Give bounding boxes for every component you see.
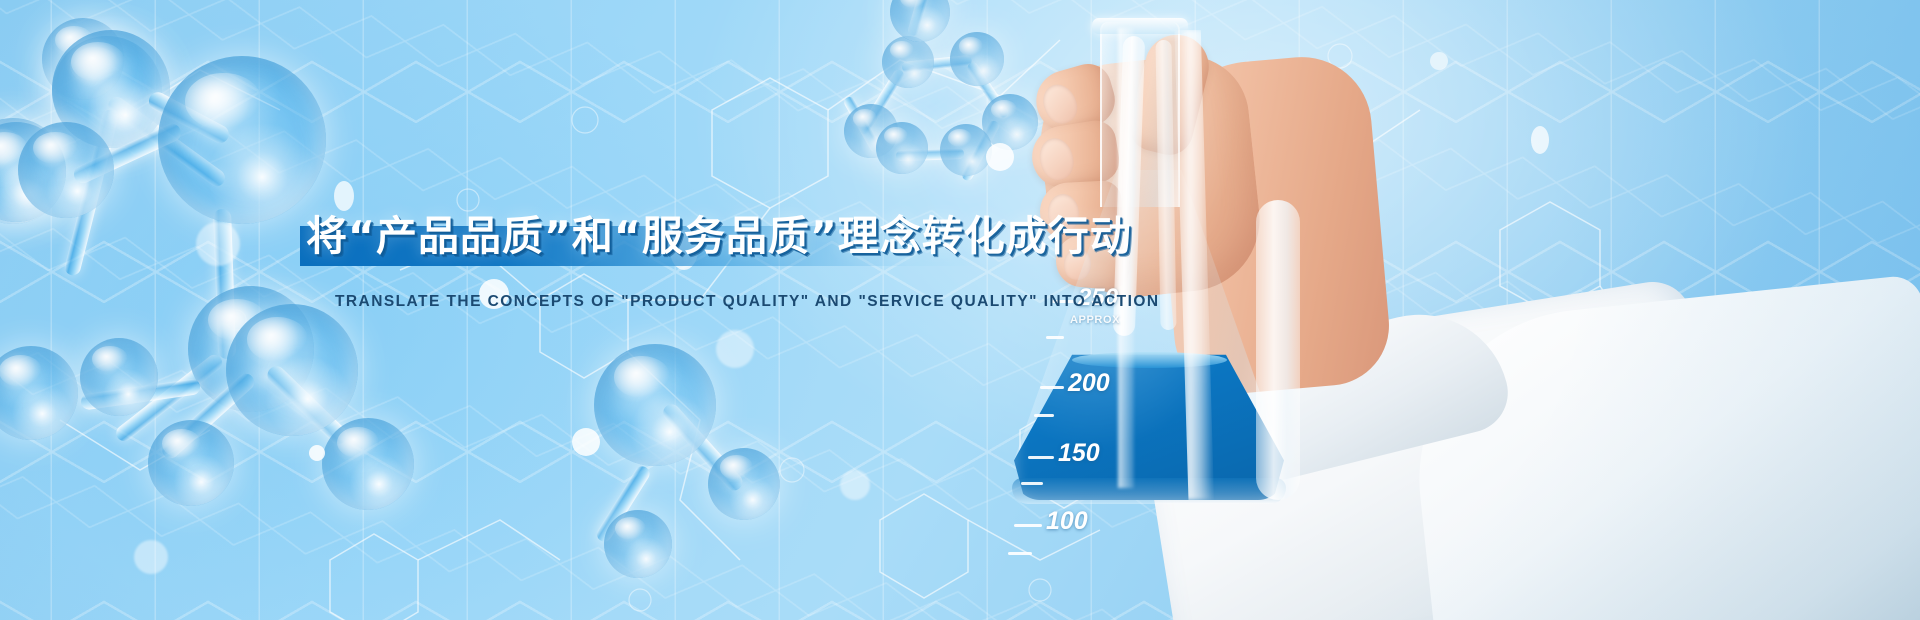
pipette-tube [1256, 200, 1300, 500]
bokeh-dot [196, 222, 240, 266]
flask-lip [1092, 18, 1188, 34]
headline-group: 将“产品品质”和“服务品质”理念转化成行动 [300, 226, 990, 266]
page-title: 将“产品品质”和“服务品质”理念转化成行动 [306, 202, 1132, 262]
hero-banner: 250 APPROX 200 150 100 [0, 0, 1920, 620]
bokeh-dot [134, 540, 168, 574]
bokeh-dot [716, 330, 754, 368]
flask-base [1012, 478, 1286, 504]
bokeh-dot [572, 428, 600, 456]
bokeh-dot [309, 445, 325, 461]
page-subtitle: TRANSLATE THE CONCEPTS OF "PRODUCT QUALI… [335, 293, 1160, 311]
bokeh-dot [840, 470, 870, 500]
headline-band: 将“产品品质”和“服务品质”理念转化成行动 [300, 226, 990, 266]
